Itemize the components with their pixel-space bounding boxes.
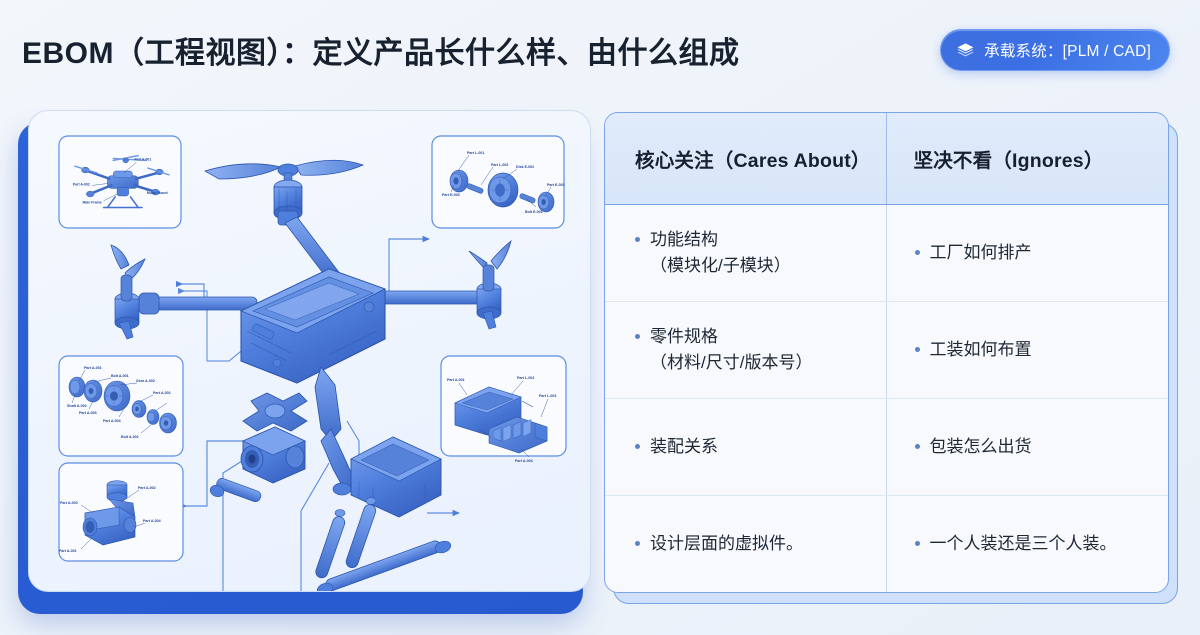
callout-battery: Part A-001 Part L-002 Part L-003 Part A-… [441, 356, 566, 463]
comparison-panel: 核心关注（Cares About） 坚决不看（Ignores） 功能结构 （模块… [604, 112, 1184, 604]
list-item: 包装怎么出货 [915, 434, 1032, 460]
part-label: Part A-004 [143, 519, 161, 523]
part-label: Part A-001 [84, 366, 102, 370]
list-item: 一个人装还是三个人装。 [915, 531, 1117, 557]
part-label: Part A-001 [59, 549, 77, 553]
table-header-row: 核心关注（Cares About） 坚决不看（Ignores） [605, 113, 1168, 205]
list-item: 工厂如何排产 [915, 240, 1032, 266]
bullet-dot-icon [635, 237, 640, 242]
part-label: Part E-003 [547, 183, 565, 187]
layers-icon [956, 41, 975, 60]
bullet-dot-icon [915, 347, 920, 352]
fuselage [241, 269, 385, 383]
list-item-label: 一个人装还是三个人装。 [930, 531, 1117, 557]
page-header: EBOM（工程视图）：定义产品长什么样、由什么组成 承载系统：[PLM / CA… [0, 0, 1200, 100]
leg-and-battery [315, 367, 441, 517]
diagram-card: Part A-001 Motor Mount Part A-002 Main F… [28, 110, 591, 592]
list-item-label: 零件规格 （材料/尺寸/版本号） [650, 324, 812, 376]
part-label: Part L-003 [539, 394, 556, 398]
diagram-panel: Part A-001 Motor Mount Part A-002 Main F… [18, 110, 591, 610]
part-label: Part A-002 [73, 182, 90, 186]
part-label: Part A-001 [447, 378, 465, 382]
drone-exploded-diagram: Part A-001 Motor Mount Part A-002 Main F… [29, 111, 591, 592]
list-item-label: 功能结构 （模块化/子模块） [650, 227, 791, 279]
table-row: 零件规格 （材料/尺寸/版本号） 工装如何布置 [605, 302, 1168, 399]
part-label: Main Frame [83, 201, 102, 205]
list-item-label: 设计层面的虚拟件。 [650, 531, 803, 557]
list-item-label: 工装如何布置 [930, 337, 1032, 363]
part-label: Part E-003 [442, 193, 460, 197]
carrier-system-label: 承载系统：[PLM / CAD] [984, 39, 1151, 61]
landing-gear [314, 498, 452, 593]
column-header-cares: 核心关注（Cares About） [605, 113, 887, 204]
list-item: 装配关系 [635, 434, 718, 460]
bullet-dot-icon [635, 334, 640, 339]
part-label: Bolt A-002 [121, 435, 139, 439]
table-cell-cares: 设计层面的虚拟件。 [605, 496, 887, 592]
part-label: Part L-001 [467, 151, 484, 155]
part-label: Part A-004 [103, 419, 121, 423]
part-label: Shaft A-002 [67, 404, 87, 408]
table-row: 功能结构 （模块化/子模块） 工厂如何排产 [605, 205, 1168, 302]
bullet-dot-icon [635, 541, 640, 546]
part-label: Part A-002 [153, 391, 171, 395]
part-label: Part A-002 [138, 486, 156, 490]
callout-gimbal: Part A-002 Part A-003 Part A-004 Part A-… [59, 463, 183, 561]
table-cell-ignores: 一个人装还是三个人装。 [887, 496, 1169, 592]
column-header-ignores: 坚决不看（Ignores） [887, 113, 1169, 204]
list-item: 零件规格 （材料/尺寸/版本号） [635, 324, 812, 376]
carrier-system-badge[interactable]: 承载系统：[PLM / CAD] [940, 29, 1170, 71]
table-cell-cares: 零件规格 （材料/尺寸/版本号） [605, 302, 887, 398]
bullet-dot-icon [915, 250, 920, 255]
table-cell-ignores: 工装如何布置 [887, 302, 1169, 398]
part-label: Part L-002 [491, 163, 508, 167]
part-label: Part L-002 [517, 376, 534, 380]
bullet-dot-icon [915, 541, 920, 546]
gimbal-assembly [209, 393, 307, 503]
list-item: 功能结构 （模块化/子模块） [635, 227, 791, 279]
table-cell-ignores: 包装怎么出货 [887, 399, 1169, 495]
list-item: 工装如何布置 [915, 337, 1032, 363]
list-item-label: 包装怎么出货 [930, 434, 1032, 460]
callout-motor: Part L-001 Part L-002 Disk E-002 Part E-… [432, 136, 565, 228]
table-body: 功能结构 （模块化/子模块） 工厂如何排产 零件规格 （材料/尺寸/版本号） [605, 205, 1168, 592]
list-item: 设计层面的虚拟件。 [635, 531, 803, 557]
part-label: Part A-003 [79, 411, 97, 415]
part-label: Gear A-002 [136, 379, 155, 383]
part-label: Disk E-002 [516, 165, 534, 169]
table-row: 装配关系 包装怎么出货 [605, 399, 1168, 496]
table-cell-cares: 装配关系 [605, 399, 887, 495]
part-label: Bolt A-001 [111, 374, 129, 378]
table-row: 设计层面的虚拟件。 一个人装还是三个人装。 [605, 496, 1168, 592]
list-item-label: 装配关系 [650, 434, 718, 460]
list-item-label: 工厂如何排产 [930, 240, 1032, 266]
arm-left [111, 245, 257, 339]
part-label: Part A-003 [60, 501, 78, 505]
callout-gear: Part A-001 Bolt A-001 Gear A-002 Part A-… [59, 356, 183, 456]
part-label: Part A-001 [134, 157, 151, 161]
propeller-top [205, 160, 363, 183]
part-label: Part A-004 [515, 459, 533, 463]
cares-ignores-table: 核心关注（Cares About） 坚决不看（Ignores） 功能结构 （模块… [604, 112, 1169, 593]
page-title: EBOM（工程视图）：定义产品长什么样、由什么组成 [22, 28, 740, 72]
bullet-dot-icon [915, 444, 920, 449]
bullet-dot-icon [635, 444, 640, 449]
table-cell-cares: 功能结构 （模块化/子模块） [605, 205, 887, 301]
part-label: Bolt E-001 [525, 210, 543, 214]
part-label: Motor Mount [147, 191, 169, 195]
callout-airframe: Part A-001 Motor Mount Part A-002 Main F… [59, 136, 181, 228]
table-cell-ignores: 工厂如何排产 [887, 205, 1169, 301]
